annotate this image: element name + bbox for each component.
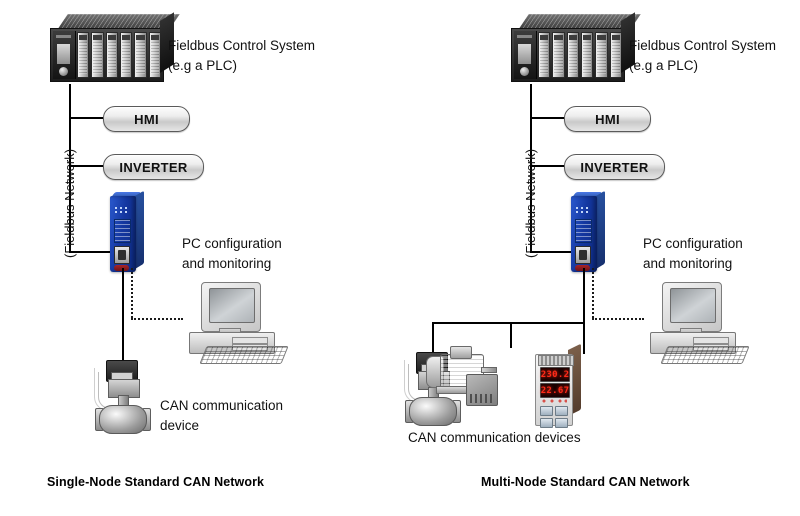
- gateway-lcd-display: [575, 219, 592, 243]
- meter-keypad[interactable]: [540, 406, 568, 428]
- node-hmi[interactable]: HMI: [103, 106, 190, 132]
- plc-front-face: [511, 28, 625, 82]
- valve-ball-body: [99, 405, 147, 434]
- motor-terminal-box: [450, 346, 472, 359]
- gateway-dsub-connector: [575, 246, 591, 264]
- can-bus-trunk: [432, 322, 585, 324]
- panel-caption-single-node: Single-Node Standard CAN Network: [47, 475, 264, 489]
- plc-io-module: [91, 32, 103, 78]
- plc-io-module: [77, 32, 89, 78]
- plc-io-module: [567, 32, 579, 78]
- fieldbus-branch-inverter: [69, 165, 103, 167]
- panel-multi-node: Fieldbus Control System (e.g a PLC) (Fie…: [400, 0, 800, 516]
- plc-io-module: [134, 32, 146, 78]
- gateway-status-leds-icon: [114, 206, 128, 215]
- fieldbus-branch-gateway: [530, 251, 572, 253]
- pc-keyboard: [660, 346, 749, 364]
- can-gateway-device[interactable]: [110, 192, 144, 272]
- pc-monitor: [201, 282, 261, 332]
- panel-caption-multi-node: Multi-Node Standard CAN Network: [481, 475, 690, 489]
- can-bus-dropline-meter: [583, 322, 585, 354]
- motor-shaft: [481, 367, 497, 373]
- meter-display-bottom: 22.67: [540, 383, 570, 398]
- meter-status-leds-icon: [541, 399, 567, 403]
- gateway-body: [110, 196, 136, 272]
- meter-front-case: 230.2 22.67: [535, 354, 573, 426]
- fieldbus-branch-inverter: [530, 165, 564, 167]
- plc-mode-knob: [520, 67, 529, 76]
- plc-brand-mark: [56, 35, 71, 38]
- gateway-side: [135, 191, 144, 269]
- pc-monitor: [662, 282, 722, 332]
- plc-io-module: [106, 32, 118, 78]
- meter-key-up[interactable]: [540, 406, 553, 416]
- plc-io-module: [552, 32, 564, 78]
- pc-workstation[interactable]: [644, 282, 744, 360]
- meter-vent-fins: [538, 355, 574, 366]
- fieldbus-branch-hmi: [69, 117, 103, 119]
- pc-drive-bay: [693, 337, 729, 344]
- pc-drive-bay: [232, 337, 268, 344]
- plc-io-module: [581, 32, 593, 78]
- pc-link-dashed-vertical: [131, 268, 133, 318]
- can-bus-line: [122, 268, 124, 362]
- panel-meter-device[interactable]: 230.2 22.67: [535, 348, 583, 424]
- meter-key-set[interactable]: [555, 406, 568, 416]
- gateway-side: [596, 191, 605, 269]
- fieldbus-branch-hmi: [530, 117, 564, 119]
- plc-label: Fieldbus Control System (e.g a PLC): [168, 36, 315, 77]
- plc-front-face: [50, 28, 164, 82]
- plc-rack[interactable]: [50, 14, 174, 86]
- valve-actuator-device[interactable]: [92, 360, 154, 442]
- plc-io-module: [595, 32, 607, 78]
- pc-workstation[interactable]: [183, 282, 283, 360]
- panel-single-node: Fieldbus Control System (e.g a PLC) (Fie…: [0, 0, 400, 516]
- meter-key-enter[interactable]: [555, 418, 568, 428]
- can-bus-dropline-motor: [510, 322, 512, 348]
- node-inverter[interactable]: INVERTER: [103, 154, 204, 180]
- can-devices-label: CAN communication devices: [408, 428, 581, 448]
- pc-link-dashed-horizontal: [131, 318, 183, 320]
- gateway-body: [571, 196, 597, 272]
- plc-cpu-module: [514, 31, 537, 79]
- plc-mode-knob: [59, 67, 68, 76]
- can-bus-dropline-gateway: [583, 268, 585, 323]
- plc-io-modules: [77, 32, 161, 78]
- plc-cpu-slot: [57, 44, 70, 64]
- plc-io-modules: [538, 32, 622, 78]
- plc-io-module: [120, 32, 132, 78]
- gateway-dsub-connector: [114, 246, 130, 264]
- plc-rack[interactable]: [511, 14, 635, 86]
- pc-link-dashed-horizontal: [592, 318, 644, 320]
- pc-label: PC configuration and monitoring: [182, 234, 282, 275]
- plc-cpu-module: [53, 31, 76, 79]
- fieldbus-branch-gateway: [69, 251, 111, 253]
- meter-display-top: 230.2: [540, 367, 570, 382]
- pc-label: PC configuration and monitoring: [643, 234, 743, 275]
- pc-keyboard: [199, 346, 288, 364]
- can-gateway-device[interactable]: [571, 192, 605, 272]
- node-inverter[interactable]: INVERTER: [564, 154, 665, 180]
- plc-label: Fieldbus Control System (e.g a PLC): [629, 36, 776, 77]
- gateway-status-leds-icon: [575, 206, 589, 215]
- plc-brand-mark: [517, 35, 532, 38]
- gateway-lcd-display: [114, 219, 131, 243]
- meter-key-down[interactable]: [540, 418, 553, 428]
- plc-cpu-slot: [518, 44, 531, 64]
- pc-link-dashed-vertical: [592, 268, 594, 318]
- motor-drive-device[interactable]: [426, 346, 502, 408]
- pc-screen: [670, 288, 716, 323]
- can-device-label: CAN communication device: [160, 396, 283, 437]
- pc-screen: [209, 288, 255, 323]
- node-hmi[interactable]: HMI: [564, 106, 651, 132]
- motor-drive-unit: [466, 374, 498, 406]
- plc-io-module: [538, 32, 550, 78]
